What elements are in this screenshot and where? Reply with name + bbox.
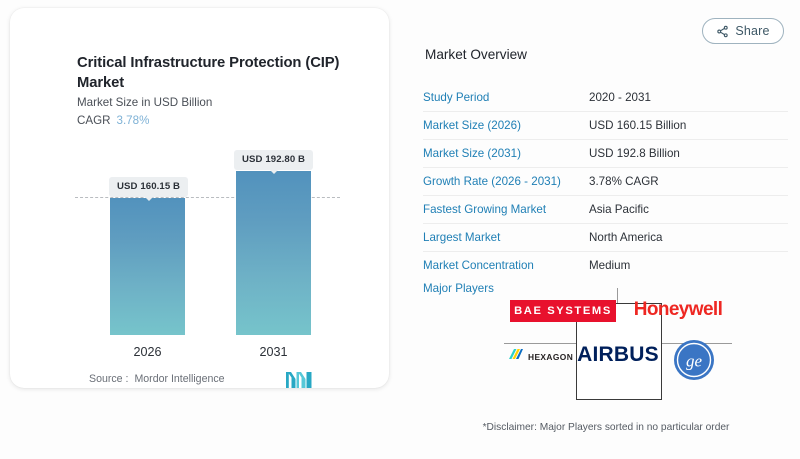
fact-value: North America: [589, 231, 662, 244]
airbus-logo-text: AIRBUS: [577, 343, 659, 367]
share-nodes-icon: [716, 25, 729, 38]
bar-label-2031: USD 192.80 B: [234, 150, 313, 170]
table-row: Market Size (2031) USD 192.8 Billion: [423, 140, 788, 168]
ge-monogram-icon: ge: [673, 339, 715, 381]
fact-value: Medium: [589, 259, 630, 272]
hexagon-mark-icon: [508, 347, 524, 368]
fact-label: Growth Rate (2026 - 2031): [423, 175, 589, 188]
table-row: Largest Market North America: [423, 224, 788, 252]
table-row: Market Concentration Medium: [423, 252, 788, 279]
fact-value: USD 192.8 Billion: [589, 147, 680, 160]
share-button[interactable]: Share: [702, 18, 784, 44]
fact-value: 2020 - 2031: [589, 91, 651, 104]
major-players-label: Major Players: [423, 282, 494, 295]
fact-label: Market Size (2031): [423, 147, 589, 160]
mordor-intelligence-logo: [286, 371, 312, 394]
major-players-logos: BAE SYSTEMS Honeywell AIRBUS HEXAGON ge: [504, 288, 732, 398]
fact-value: 3.78% CAGR: [589, 175, 659, 188]
bar-2031[interactable]: [236, 171, 311, 335]
fact-value: USD 160.15 Billion: [589, 119, 686, 132]
hexagon-logo-text: HEXAGON: [528, 352, 573, 362]
fact-label: Market Size (2026): [423, 119, 589, 132]
share-button-label: Share: [735, 24, 769, 38]
ge-logo[interactable]: ge: [672, 338, 716, 382]
table-row: Growth Rate (2026 - 2031) 3.78% CAGR: [423, 168, 788, 196]
bar-2026[interactable]: [110, 198, 185, 335]
bar-label-2026: USD 160.15 B: [109, 177, 188, 197]
fact-label: Market Concentration: [423, 259, 589, 272]
table-row: Fastest Growing Market Asia Pacific: [423, 196, 788, 224]
fact-value: Asia Pacific: [589, 203, 649, 216]
airbus-logo[interactable]: AIRBUS: [578, 340, 658, 370]
chart-card: Critical Infrastructure Protection (CIP)…: [10, 8, 389, 388]
market-overview-title: Market Overview: [425, 47, 527, 62]
fact-label: Study Period: [423, 91, 589, 104]
honeywell-logo-text: Honeywell: [634, 299, 723, 321]
source-name: Mordor Intelligence: [134, 373, 224, 385]
x-axis-tick-2031: 2031: [236, 345, 311, 359]
honeywell-logo[interactable]: Honeywell: [624, 296, 732, 324]
fact-label: Fastest Growing Market: [423, 203, 589, 216]
svg-text:ge: ge: [686, 352, 703, 371]
bae-systems-logo[interactable]: BAE SYSTEMS: [510, 300, 616, 322]
bae-systems-logo-text: BAE SYSTEMS: [514, 305, 612, 317]
chart-source: Source : Mordor Intelligence: [89, 373, 225, 385]
table-row: Market Size (2026) USD 160.15 Billion: [423, 112, 788, 140]
hexagon-logo[interactable]: HEXAGON: [508, 346, 574, 368]
source-label: Source :: [89, 373, 128, 385]
x-axis-tick-2026: 2026: [110, 345, 185, 359]
market-overview-table: Study Period 2020 - 2031 Market Size (20…: [423, 84, 788, 279]
table-row: Study Period 2020 - 2031: [423, 84, 788, 112]
players-disclaimer: *Disclaimer: Major Players sorted in no …: [424, 422, 788, 433]
bar-chart-plot: USD 160.15 B USD 192.80 B 2026 2031: [10, 8, 389, 388]
fact-label: Largest Market: [423, 231, 589, 244]
page-background: Share Critical Infrastructure Protection…: [0, 0, 800, 459]
